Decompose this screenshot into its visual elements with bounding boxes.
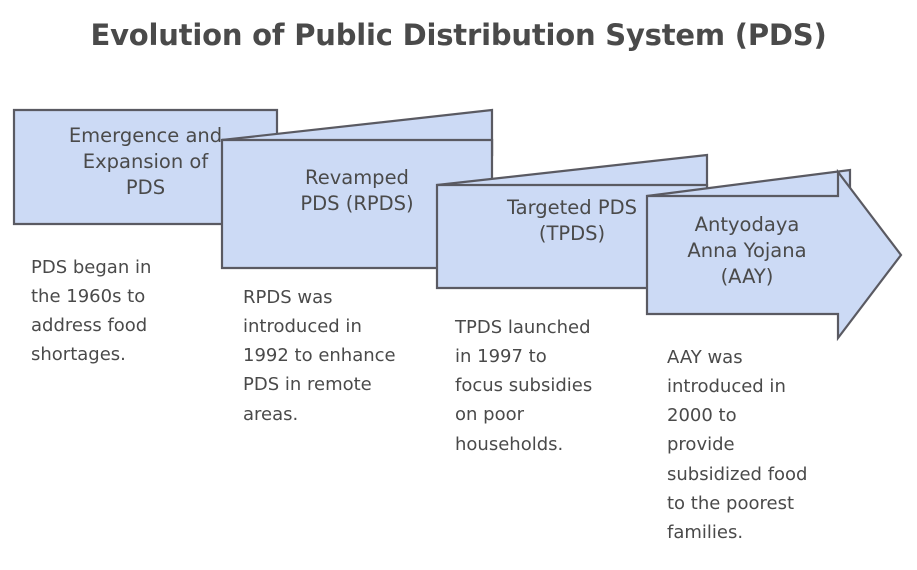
stage-label-4: Antyodaya Anna Yojana (AAY) [647,212,847,290]
stage-description-1: PDS began in the 1960s to address food s… [31,253,231,370]
stage-description-4: AAY was introduced in 2000 to provide su… [667,343,872,547]
stage-description-3: TPDS launched in 1997 to focus subsidies… [455,313,645,459]
stage-description-2: RPDS was introduced in 1992 to enhance P… [243,283,458,429]
